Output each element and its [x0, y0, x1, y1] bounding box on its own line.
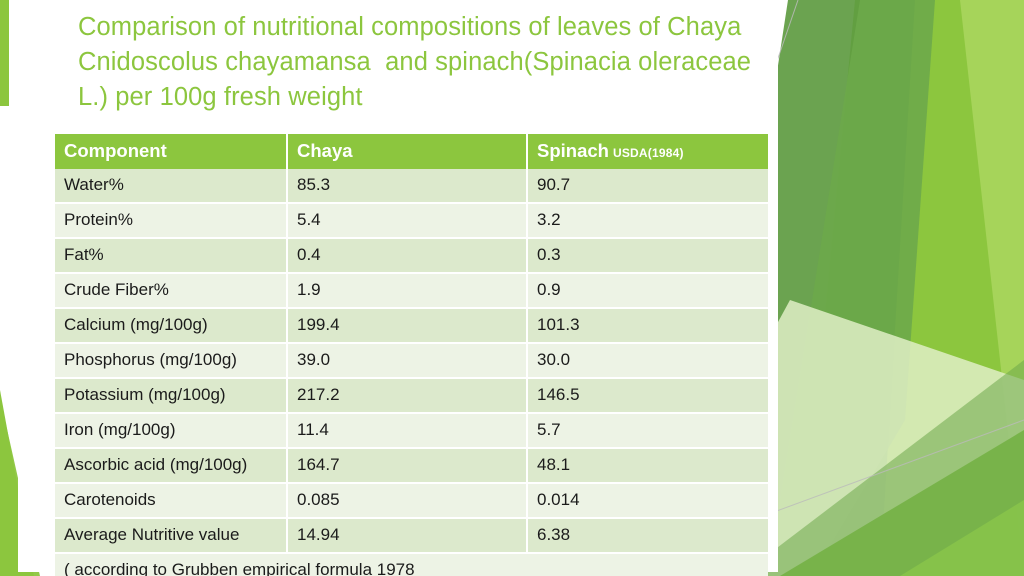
deco-shape-right-pale [880, 0, 1024, 576]
cell-spinach: 101.3 [527, 308, 768, 343]
cell-component: Ascorbic acid (mg/100g) [55, 448, 287, 483]
left-accent-bar [0, 0, 9, 106]
cell-component: Potassium (mg/100g) [55, 378, 287, 413]
cell-chaya: 1.9 [287, 273, 527, 308]
nutrition-table-container: Component Chaya SpinachUSDA(1984) Water%… [55, 134, 768, 576]
column-header-spinach-source: USDA(1984) [609, 146, 684, 160]
table-row: Carotenoids 0.085 0.014 [55, 483, 768, 518]
deco-shape-mid-wedge [768, 0, 935, 576]
column-header-component: Component [55, 134, 287, 169]
column-header-chaya: Chaya [287, 134, 527, 169]
cell-chaya: 199.4 [287, 308, 527, 343]
table-footnote: ( according to Grubben empirical formula… [55, 553, 768, 576]
cell-chaya: 0.4 [287, 238, 527, 273]
column-header-spinach-label: Spinach [537, 140, 609, 161]
cell-spinach: 30.0 [527, 343, 768, 378]
cell-spinach: 48.1 [527, 448, 768, 483]
cell-spinach: 6.38 [527, 518, 768, 553]
table-row: Calcium (mg/100g) 199.4 101.3 [55, 308, 768, 343]
deco-shape-bottom-mid [740, 360, 1024, 576]
table-row: Crude Fiber% 1.9 0.9 [55, 273, 768, 308]
cell-component: Crude Fiber% [55, 273, 287, 308]
cell-chaya: 5.4 [287, 203, 527, 238]
deco-shape-right-light [800, 0, 1024, 576]
table-row: Water% 85.3 90.7 [55, 169, 768, 203]
cell-chaya: 217.2 [287, 378, 527, 413]
table-header: Component Chaya SpinachUSDA(1984) [55, 134, 768, 169]
cell-chaya: 39.0 [287, 343, 527, 378]
cell-chaya: 164.7 [287, 448, 527, 483]
page-title: Comparison of nutritional compositions o… [78, 10, 783, 115]
table-row: Ascorbic acid (mg/100g) 164.7 48.1 [55, 448, 768, 483]
cell-component: Water% [55, 169, 287, 203]
column-header-spinach: SpinachUSDA(1984) [527, 134, 768, 169]
table-footnote-row: ( according to Grubben empirical formula… [55, 553, 768, 576]
cell-spinach: 90.7 [527, 169, 768, 203]
cell-component: Iron (mg/100g) [55, 413, 287, 448]
cell-component: Calcium (mg/100g) [55, 308, 287, 343]
cell-spinach: 146.5 [527, 378, 768, 413]
table-row: Fat% 0.4 0.3 [55, 238, 768, 273]
cell-component: Average Nutritive value [55, 518, 287, 553]
cell-spinach: 5.7 [527, 413, 768, 448]
table-row: Iron (mg/100g) 11.4 5.7 [55, 413, 768, 448]
nutrition-table: Component Chaya SpinachUSDA(1984) Water%… [55, 134, 768, 576]
cell-component: Fat% [55, 238, 287, 273]
cell-spinach: 0.9 [527, 273, 768, 308]
column-header-chaya-label: Chaya [297, 140, 353, 161]
table-row: Protein% 5.4 3.2 [55, 203, 768, 238]
table-body: Water% 85.3 90.7 Protein% 5.4 3.2 Fat% 0… [55, 169, 768, 576]
table-row: Average Nutritive value 14.94 6.38 [55, 518, 768, 553]
cell-component: Carotenoids [55, 483, 287, 518]
deco-shape-bottom-green [780, 430, 1024, 576]
presentation-slide: Comparison of nutritional compositions o… [0, 0, 1024, 576]
table-row: Potassium (mg/100g) 217.2 146.5 [55, 378, 768, 413]
column-header-component-label: Component [64, 140, 167, 161]
cell-component: Protein% [55, 203, 287, 238]
table-row: Phosphorus (mg/100g) 39.0 30.0 [55, 343, 768, 378]
cell-spinach: 0.014 [527, 483, 768, 518]
cell-chaya: 0.085 [287, 483, 527, 518]
cell-chaya: 14.94 [287, 518, 527, 553]
cell-chaya: 11.4 [287, 413, 527, 448]
cell-spinach: 3.2 [527, 203, 768, 238]
cell-spinach: 0.3 [527, 238, 768, 273]
cell-chaya: 85.3 [287, 169, 527, 203]
table-header-row: Component Chaya SpinachUSDA(1984) [55, 134, 768, 169]
cell-component: Phosphorus (mg/100g) [55, 343, 287, 378]
